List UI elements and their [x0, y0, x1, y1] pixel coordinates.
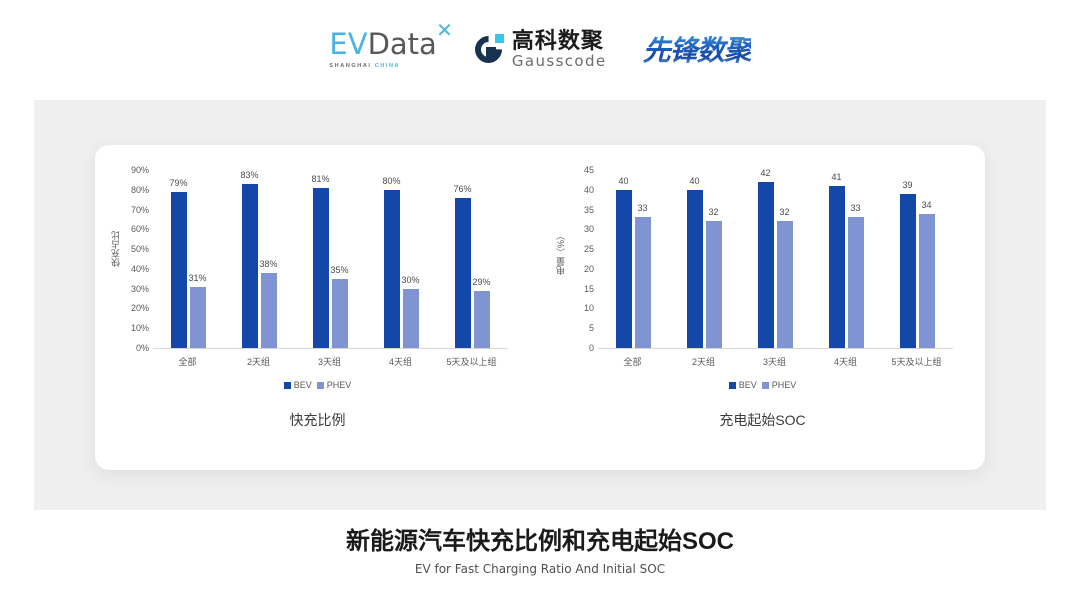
y-axis-tick: 25 [558, 244, 594, 254]
gausscode-inner-square-icon [486, 47, 496, 57]
xianfeng-logo: 先锋数聚 [643, 29, 751, 69]
x-axis-tick: 3天组 [763, 355, 786, 368]
bar-phev-2 [332, 279, 348, 348]
x-axis-tick: 4天组 [389, 355, 412, 368]
footer-title-en: EV for Fast Charging Ratio And Initial S… [0, 562, 1080, 576]
bar-phev-1 [261, 273, 277, 348]
bar-value-label: 38% [259, 259, 277, 269]
gausscode-logo: 高科数聚 Gausscode [475, 30, 607, 69]
chart-fast-charging-ratio: 快充占比0%10%20%30%40%50%60%70%80%90%79%31%全… [95, 148, 540, 468]
y-axis-tick: 0% [113, 343, 149, 353]
legend-item-phev[interactable]: PHEV [762, 380, 797, 390]
y-axis-tick: 50% [113, 244, 149, 254]
x-axis-tick: 3天组 [318, 355, 341, 368]
evdata-tagline: SHANGHAI CHINA [329, 63, 400, 69]
gausscode-en-text: Gausscode [512, 54, 607, 69]
bar-bev-3 [829, 186, 845, 348]
bar-phev-0 [190, 287, 206, 348]
bar-value-label: 83% [240, 170, 258, 180]
legend-swatch-icon [317, 382, 324, 389]
bar-value-label: 33 [850, 203, 860, 213]
x-axis-tick: 全部 [623, 355, 641, 368]
y-axis-tick: 20 [558, 264, 594, 274]
y-axis-tick: 20% [113, 303, 149, 313]
gausscode-square-icon [495, 34, 504, 43]
y-axis-tick: 70% [113, 205, 149, 215]
charts-container: 快充占比0%10%20%30%40%50%60%70%80%90%79%31%全… [95, 148, 985, 468]
legend-label: PHEV [327, 380, 352, 390]
bar-bev-4 [900, 194, 916, 348]
y-axis-tick: 40 [558, 185, 594, 195]
y-axis-tick: 15 [558, 284, 594, 294]
bar-bev-3 [384, 190, 400, 348]
legend-label: PHEV [772, 380, 797, 390]
bar-bev-2 [313, 188, 329, 348]
bar-bev-1 [242, 184, 258, 348]
bar-value-label: 80% [382, 176, 400, 186]
bar-value-label: 33 [637, 203, 647, 213]
bar-value-label: 32 [779, 207, 789, 217]
footer-titles: 新能源汽车快充比例和充电起始SOC EV for Fast Charging R… [0, 528, 1080, 576]
slide-root: EV Data ✕ SHANGHAI CHINA 高科数聚 Gausscode … [0, 0, 1080, 608]
y-axis-tick: 60% [113, 224, 149, 234]
bar-phev-4 [919, 214, 935, 348]
bar-value-label: 40 [618, 176, 628, 186]
bar-value-label: 32 [708, 207, 718, 217]
y-axis-tick: 10% [113, 323, 149, 333]
chart-legend: BEVPHEV [540, 380, 985, 390]
bar-value-label: 34 [921, 200, 931, 210]
y-axis-tick: 0 [558, 343, 594, 353]
bar-bev-0 [171, 192, 187, 348]
legend-swatch-icon [762, 382, 769, 389]
evdata-data-text: Data [368, 30, 437, 59]
gausscode-cn-text: 高科数聚 [512, 30, 607, 52]
y-axis-tick: 30% [113, 284, 149, 294]
evdata-logo: EV Data ✕ SHANGHAI CHINA [329, 30, 436, 69]
bar-value-label: 79% [169, 178, 187, 188]
bar-bev-0 [616, 190, 632, 348]
legend-swatch-icon [284, 382, 291, 389]
bar-bev-2 [758, 182, 774, 348]
evdata-tagline-country: CHINA [375, 63, 400, 69]
y-axis-tick: 30 [558, 224, 594, 234]
footer-title-cn: 新能源汽车快充比例和充电起始SOC [0, 528, 1080, 557]
x-axis-tick: 4天组 [834, 355, 857, 368]
y-axis-tick: 45 [558, 165, 594, 175]
bar-bev-1 [687, 190, 703, 348]
y-axis-tick: 40% [113, 264, 149, 274]
legend-item-bev[interactable]: BEV [729, 380, 757, 390]
bar-phev-3 [403, 289, 419, 348]
evdata-tagline-city: SHANGHAI [329, 63, 371, 69]
bar-value-label: 35% [330, 265, 348, 275]
evdata-cross-icon: ✕ [436, 21, 453, 41]
chart-caption: 快充比例 [95, 410, 540, 430]
bar-value-label: 76% [453, 184, 471, 194]
bar-value-label: 39 [902, 180, 912, 190]
x-axis-tick: 2天组 [247, 355, 270, 368]
bar-phev-0 [635, 217, 651, 348]
legend-item-phev[interactable]: PHEV [317, 380, 352, 390]
x-axis-tick: 全部 [178, 355, 196, 368]
y-axis-tick: 80% [113, 185, 149, 195]
x-axis-tick: 5天及以上组 [891, 355, 941, 368]
legend-label: BEV [739, 380, 757, 390]
x-axis-tick: 2天组 [692, 355, 715, 368]
legend-swatch-icon [729, 382, 736, 389]
chart-initial-soc: 电量（%）0510152025303540454033全部40322天组4232… [540, 148, 985, 468]
bar-value-label: 30% [401, 275, 419, 285]
logo-bar: EV Data ✕ SHANGHAI CHINA 高科数聚 Gausscode … [0, 18, 1080, 80]
chart-caption: 充电起始SOC [540, 410, 985, 430]
gausscode-mark-icon [475, 34, 505, 64]
bar-value-label: 31% [188, 273, 206, 283]
bar-value-label: 81% [311, 174, 329, 184]
bar-phev-1 [706, 221, 722, 348]
bar-value-label: 40 [689, 176, 699, 186]
x-axis-line [598, 348, 953, 349]
bar-value-label: 29% [472, 277, 490, 287]
x-axis-tick: 5天及以上组 [446, 355, 496, 368]
chart-legend: BEVPHEV [95, 380, 540, 390]
legend-item-bev[interactable]: BEV [284, 380, 312, 390]
gausscode-wordmark: 高科数聚 Gausscode [512, 30, 607, 69]
y-axis-tick: 35 [558, 205, 594, 215]
bar-value-label: 42 [760, 168, 770, 178]
bar-value-label: 41 [831, 172, 841, 182]
x-axis-line [153, 348, 508, 349]
bar-bev-4 [455, 198, 471, 348]
bar-phev-3 [848, 217, 864, 348]
y-axis-tick: 90% [113, 165, 149, 175]
y-axis-tick: 5 [558, 323, 594, 333]
bar-phev-2 [777, 221, 793, 348]
evdata-ev-text: EV [329, 30, 367, 59]
y-axis-tick: 10 [558, 303, 594, 313]
legend-label: BEV [294, 380, 312, 390]
evdata-wordmark: EV Data ✕ [329, 30, 436, 59]
bar-phev-4 [474, 291, 490, 348]
